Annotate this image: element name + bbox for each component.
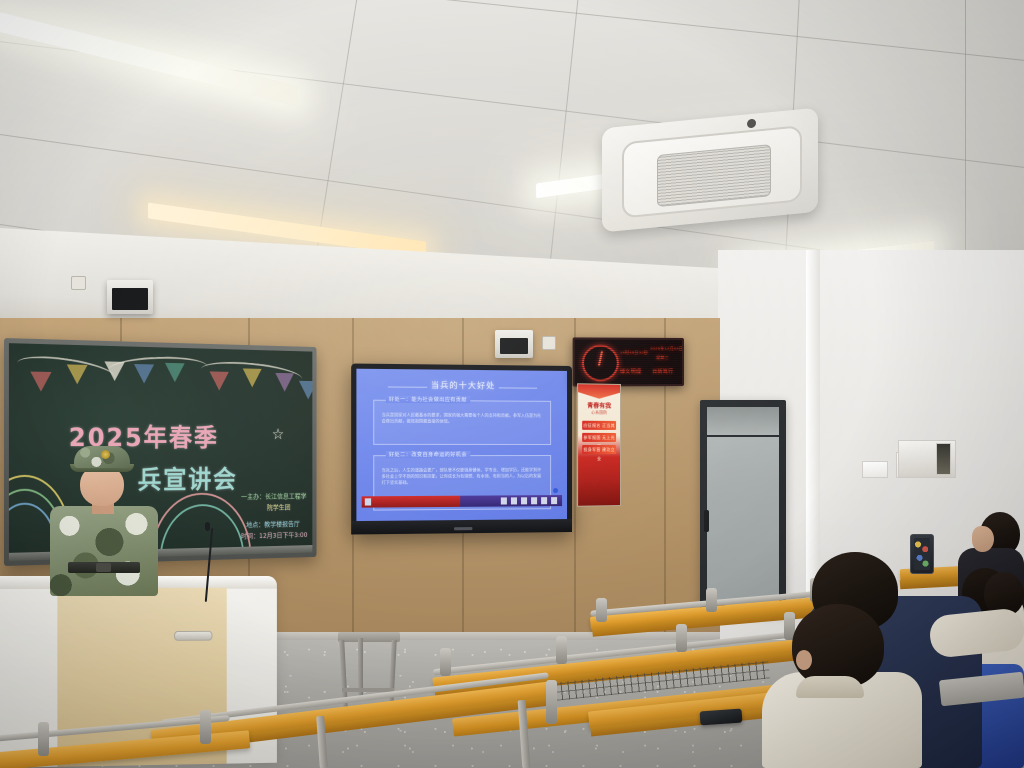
bench-bracket — [596, 598, 607, 622]
speaker-grille — [500, 338, 528, 354]
bunting-flag — [275, 373, 294, 392]
presenter-uniform — [50, 506, 158, 596]
slide-section-2-heading: 好处二：改变自身命运的好机会 — [386, 451, 470, 458]
taskbar-icon[interactable] — [365, 498, 371, 505]
classroom-photo: 2025年春季 兵宣讲会 ☆ 一主办：长江信息工程学 院学生团 地点：教学楼报告… — [0, 0, 1024, 768]
bunting-flag — [243, 368, 262, 387]
display-brand-logo — [454, 527, 472, 530]
stool-leg — [388, 640, 397, 708]
blackboard-subtitle-2: 院学生团 — [267, 503, 291, 513]
poster-header-ribbon — [578, 384, 620, 399]
bench-bracket — [440, 648, 451, 676]
led-marquee-sign: 14时45分32秒 2025年12月03日 星期三 博文明理 日新笃行 — [573, 337, 684, 386]
turtleneck-collar — [796, 676, 864, 698]
wall-speaker-left — [107, 280, 153, 314]
bunting-flag — [67, 364, 88, 384]
bench-bracket — [556, 636, 567, 664]
bunting-flag — [134, 364, 154, 384]
poster-title: 青春有我 — [578, 400, 620, 410]
bunting-flag — [30, 372, 51, 392]
student-ear — [796, 650, 812, 670]
bunting-flag — [299, 381, 312, 400]
ceiling-air-conditioner — [602, 108, 818, 233]
bench-bracket — [706, 588, 717, 612]
microphone-head — [205, 522, 210, 531]
blackboard-subtitle-1: 一主办：长江信息工程学 — [241, 492, 307, 502]
slide-section-2-body: 当兵之后，人生的道路会更广，部队里不仅能强身健体、学专业、增加学历，还能学到许多… — [382, 467, 544, 486]
poster-slogan-3: 投身军营 建功立业 — [582, 445, 616, 463]
bench-bracket — [546, 680, 557, 724]
slide-section-1-body: 当兵是国家对人民最基本的要求，国家的强大需要每个人的支持和贡献。参军入伍是为社会… — [382, 412, 544, 425]
wall-display[interactable]: 当兵的十大好处 好处一：能为社会做出应有贡献 当兵是国家对人民最基本的要求，国家… — [351, 363, 572, 534]
ac-inner-panel — [622, 125, 802, 218]
ac-grille — [657, 144, 771, 207]
recruitment-poster: 青春有我 心系国防 应征报名 正当其时 参军报国 无上光荣 投身军营 建功立业 — [577, 383, 621, 507]
presenter — [44, 446, 164, 596]
poster-slogan-band: 参军报国 无上光荣 — [582, 433, 616, 442]
taskbar-icon[interactable] — [551, 497, 557, 504]
poster-mountain-graphic — [578, 467, 620, 506]
wall-speaker-right — [495, 330, 533, 358]
wall-power-outlet[interactable] — [71, 276, 86, 290]
display-bezel-bottom — [351, 519, 572, 535]
taskbar-icon[interactable] — [541, 497, 547, 504]
led-clock-icon — [582, 345, 619, 382]
wall-junction-box — [542, 336, 556, 350]
stool-seat — [338, 632, 400, 642]
bench-bracket — [676, 624, 687, 652]
blackboard-star-icon: ☆ — [272, 425, 286, 443]
door-transom-window — [707, 407, 779, 437]
bunting-flag — [165, 363, 185, 383]
taskbar-icon[interactable] — [531, 497, 537, 504]
display-screen[interactable]: 当兵的十大好处 好处一：能为社会做出应有贡献 当兵是国家对人民最基本的要求，国家… — [356, 369, 567, 521]
entry-door[interactable] — [700, 400, 786, 612]
taskbar-icon[interactable] — [511, 497, 517, 504]
smartphone-on-desk[interactable] — [700, 709, 743, 726]
ceiling-light-panel-1 — [0, 10, 298, 107]
smartphone-on-stand[interactable] — [910, 534, 934, 574]
poster-slogan-band: 应征报名 正当其时 — [582, 421, 616, 430]
bunting-flag — [210, 371, 229, 390]
bench-bracket — [200, 710, 211, 744]
student-face — [972, 526, 994, 552]
led-clock-hand — [598, 351, 603, 366]
bunting-flag — [104, 361, 124, 381]
ac-sensor-icon — [747, 119, 756, 129]
blackboard-subtitle-4: 时间：12月3日下午3:00 — [241, 530, 307, 541]
cap-badge-icon — [101, 450, 110, 459]
led-time-text: 14时45分32秒 — [620, 350, 648, 356]
slide-pointer-dot — [553, 488, 558, 493]
led-weekday-text: 星期三 — [656, 355, 669, 361]
led-motto-left: 博文明理 — [620, 368, 641, 375]
speaker-grille — [112, 288, 148, 310]
slide-section-1-heading: 好处一：能为社会做出应有贡献 — [386, 396, 470, 404]
podium-nameplate — [174, 631, 212, 641]
led-motto-right: 日新笃行 — [652, 368, 673, 375]
poster-subtitle: 心系国防 — [578, 410, 620, 416]
blackboard-subtitle-3: 地点：教学楼报告厅 — [246, 519, 300, 529]
light-switch-plate[interactable] — [862, 461, 888, 478]
taskbar-red-band — [362, 496, 460, 508]
presenter-face — [80, 466, 124, 506]
poster-slogan-band: 投身军营 建功立业 — [582, 445, 616, 454]
slide-title: 当兵的十大好处 — [356, 379, 567, 392]
bench-bracket — [38, 722, 49, 756]
presenter-belt-buckle — [96, 563, 111, 572]
led-date-text: 2025年12月03日 — [650, 346, 683, 352]
door-handle[interactable] — [704, 510, 709, 532]
taskbar-icon[interactable] — [521, 497, 527, 504]
wall-recess-dark-insert — [936, 443, 951, 475]
taskbar-icon[interactable] — [501, 497, 507, 504]
